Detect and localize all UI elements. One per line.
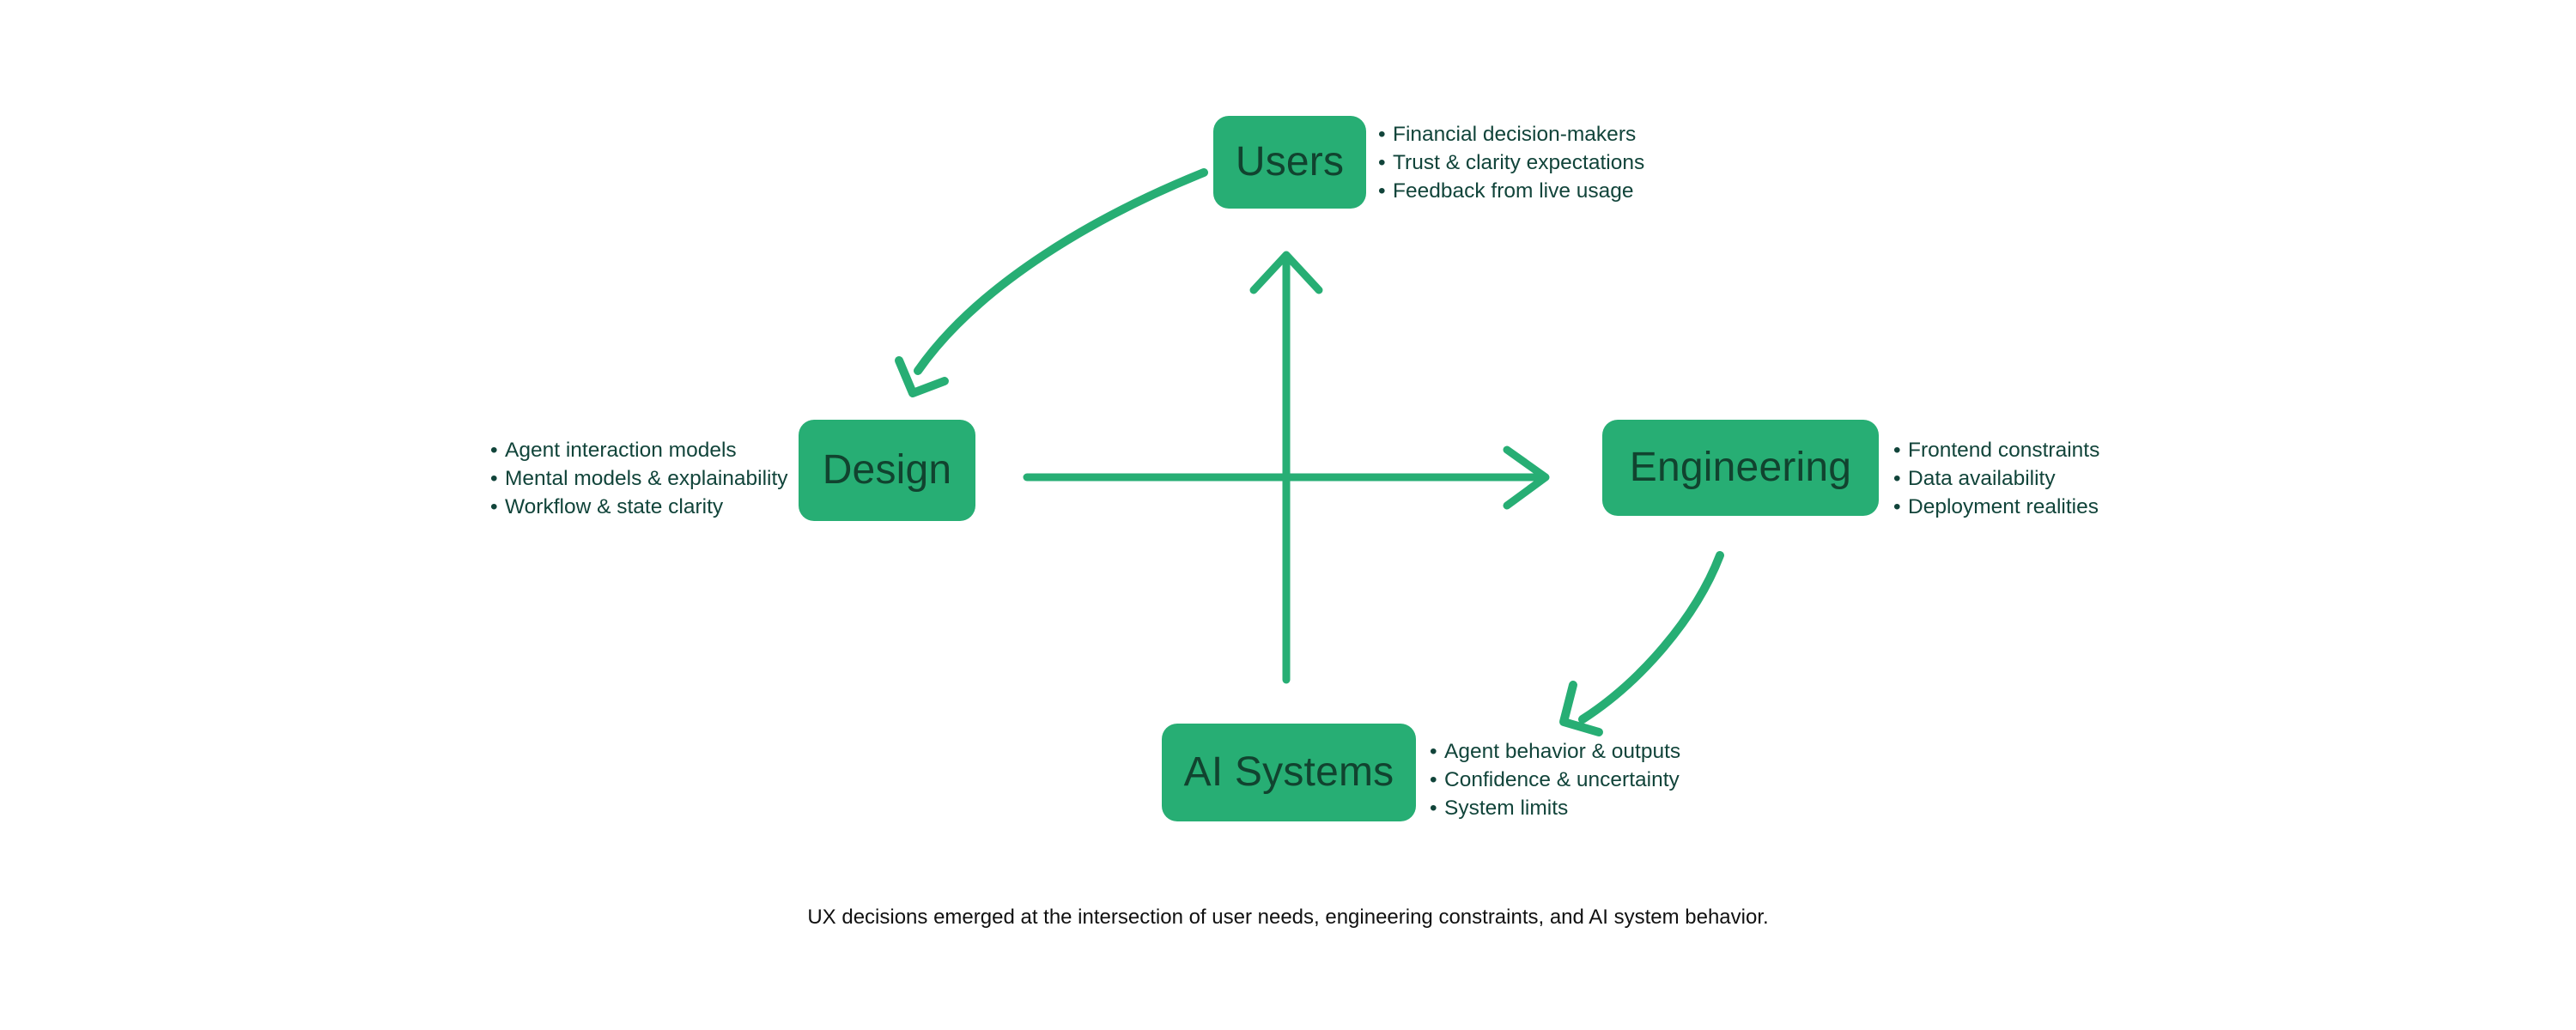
list-item: •Workflow & state clarity [490,493,788,521]
bullet-text: Deployment realities [1908,495,2099,518]
bullet-marker-icon: • [490,464,505,493]
bullet-text: Data availability [1908,467,2056,490]
list-item: •Data availability [1893,464,2099,493]
bullet-marker-icon: • [490,436,505,464]
bullet-list-users: •Financial decision-makers •Trust & clar… [1378,120,1644,205]
bullet-marker-icon: • [1378,177,1393,205]
bullet-list-ai-systems: •Agent behavior & outputs •Confidence & … [1430,737,1680,822]
bullet-marker-icon: • [1893,436,1908,464]
bullet-text: Frontend constraints [1908,439,2099,462]
list-item: •Confidence & uncertainty [1430,766,1680,794]
bullet-text: System limits [1444,797,1568,820]
bullet-text: Feedback from live usage [1393,179,1634,203]
bullet-marker-icon: • [490,493,505,521]
list-item: •Financial decision-makers [1378,120,1644,148]
node-design[interactable]: Design [799,420,975,521]
bullet-marker-icon: • [1430,737,1444,766]
list-item: •Agent interaction models [490,436,788,464]
bullet-text: Mental models & explainability [505,464,788,493]
bullet-text: Agent behavior & outputs [1444,740,1680,763]
bullet-text: Agent interaction models [505,436,737,464]
node-ai-systems-label: AI Systems [1184,752,1394,793]
list-item: •Deployment realities [1893,493,2099,521]
connector-design-to-engineering [1027,450,1546,506]
node-ai-systems[interactable]: AI Systems [1162,724,1416,821]
bullet-marker-icon: • [1430,794,1444,822]
list-item: •Feedback from live usage [1378,177,1644,205]
node-users[interactable]: Users [1213,116,1366,209]
bullet-list-engineering: •Frontend constraints •Data availability… [1893,436,2099,521]
diagram-caption: UX decisions emerged at the intersection… [0,904,2576,931]
bullet-marker-icon: • [1893,464,1908,493]
node-users-label: Users [1236,142,1344,183]
node-engineering[interactable]: Engineering [1602,420,1879,516]
bullet-list-design: •Agent interaction models •Mental models… [490,436,788,521]
connector-engineering-to-ai [1564,555,1720,732]
connector-users-to-design [899,173,1204,393]
list-item: •System limits [1430,794,1680,822]
list-item: •Frontend constraints [1893,436,2099,464]
bullet-marker-icon: • [1378,148,1393,177]
bullet-marker-icon: • [1893,493,1908,521]
diagram-canvas: Users •Financial decision-makers •Trust … [0,0,2576,1030]
node-engineering-label: Engineering [1630,447,1851,488]
bullet-marker-icon: • [1430,766,1444,794]
list-item: •Agent behavior & outputs [1430,737,1680,766]
connector-ai-to-users [1254,255,1319,680]
bullet-text: Confidence & uncertainty [1444,768,1680,791]
bullet-marker-icon: • [1378,120,1393,148]
node-design-label: Design [823,450,952,491]
list-item: •Mental models & explainability [490,464,788,493]
bullet-text: Trust & clarity expectations [1393,151,1644,174]
list-item: •Trust & clarity expectations [1378,148,1644,177]
bullet-text: Financial decision-makers [1393,123,1636,146]
bullet-text: Workflow & state clarity [505,493,723,521]
